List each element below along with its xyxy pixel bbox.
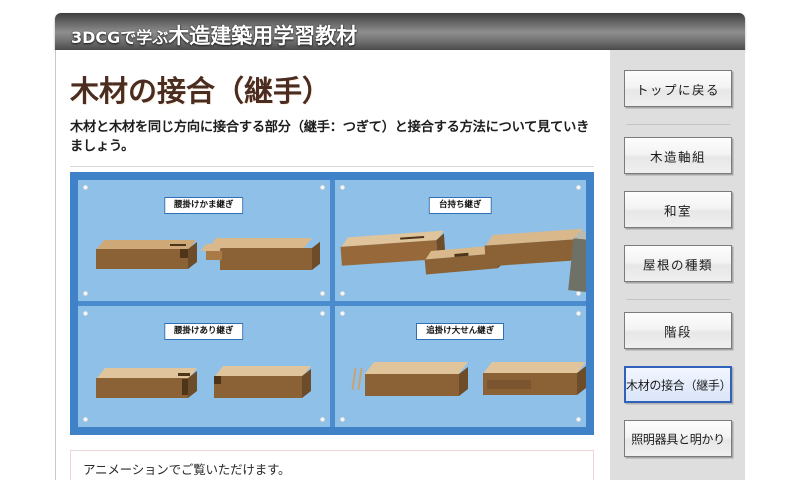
sidebar: トップに戻る 木造軸組 和室 屋根の種類 階段 木材の接合（継手） 照明器具と明…: [609, 50, 745, 480]
figure-panel-1-label: 腰掛けかま継ぎ: [164, 197, 244, 214]
figure-panel-4[interactable]: 追掛け大せん継ぎ: [335, 306, 587, 427]
animation-note-text: アニメーションでご覧いただけます。: [83, 459, 290, 478]
site-title-main: 木造建築用学習教材: [168, 24, 357, 48]
timber-left: [365, 362, 471, 398]
screw-icon: [340, 311, 345, 316]
timber-right: [206, 238, 314, 274]
screw-icon: [340, 291, 345, 296]
sidebar-item-top[interactable]: トップに戻る: [624, 70, 732, 107]
timber-right: [214, 366, 314, 402]
sidebar-item-label: 和室: [625, 200, 731, 219]
timber-left: [96, 240, 196, 274]
screw-icon: [320, 291, 325, 296]
screw-icon: [576, 311, 581, 316]
screw-icon: [83, 417, 88, 422]
timber-right: [483, 362, 587, 398]
screw-icon: [576, 185, 581, 190]
screw-icon: [320, 417, 325, 422]
sidebar-item-label: 屋根の種類: [625, 254, 731, 273]
joinery-figure[interactable]: 腰掛けかま継ぎ: [70, 172, 594, 435]
sidebar-item-shoumeikigu[interactable]: 照明器具と明かり: [624, 420, 732, 457]
sidebar-divider: [626, 124, 730, 125]
page-root: 3DCGで学ぶ木造建築用学習教材 木材の接合（継手） 木材と木材を同じ方向に接合…: [0, 0, 800, 480]
animation-note: アニメーションでご覧いただけます。: [70, 450, 594, 480]
sidebar-item-mokuzou-jikugumi[interactable]: 木造軸組: [624, 137, 732, 174]
sidebar-item-mokuzai-no-setsugou[interactable]: 木材の接合（継手）: [624, 366, 732, 403]
timber-left: [96, 368, 200, 402]
sidebar-item-kaidan[interactable]: 階段: [624, 312, 732, 349]
sidebar-item-label: 木材の接合（継手）: [626, 376, 730, 393]
site-header: 3DCGで学ぶ木造建築用学習教材: [55, 13, 745, 50]
title-divider: [70, 166, 594, 167]
screw-icon: [83, 291, 88, 296]
screw-icon: [340, 185, 345, 190]
screw-icon: [83, 311, 88, 316]
screw-icon: [83, 185, 88, 190]
screw-icon: [576, 417, 581, 422]
sidebar-divider: [626, 299, 730, 300]
figure-panel-3[interactable]: 腰掛けあり継ぎ: [78, 306, 330, 427]
screw-icon: [340, 417, 345, 422]
sidebar-item-label: 階段: [625, 321, 731, 340]
figure-panel-4-label: 追掛け大せん継ぎ: [416, 323, 504, 340]
screw-icon: [320, 185, 325, 190]
lead-paragraph: 木材と木材を同じ方向に接合する部分（継手：つぎて）と接合する方法について見ていき…: [70, 118, 594, 156]
content-shell: 木材の接合（継手） 木材と木材を同じ方向に接合する部分（継手：つぎて）と接合する…: [55, 50, 745, 480]
sidebar-item-label: 照明器具と明かり: [625, 430, 731, 447]
figure-panel-2[interactable]: 台持ち継ぎ: [335, 180, 587, 301]
site-title-prefix: 3DCGで学ぶ: [71, 28, 168, 47]
figure-grid: 腰掛けかま継ぎ: [78, 180, 586, 427]
figure-panel-1[interactable]: 腰掛けかま継ぎ: [78, 180, 330, 301]
figure-panel-2-label: 台持ち継ぎ: [429, 197, 492, 214]
sidebar-item-label: トップに戻る: [625, 79, 731, 98]
figure-panel-3-label: 腰掛けあり継ぎ: [164, 323, 244, 340]
site-title: 3DCGで学ぶ木造建築用学習教材: [71, 20, 357, 50]
sidebar-item-yane-no-shurui[interactable]: 屋根の種類: [624, 245, 732, 282]
main-column: 木材の接合（継手） 木材と木材を同じ方向に接合する部分（継手：つぎて）と接合する…: [56, 50, 608, 480]
page-title: 木材の接合（継手）: [70, 68, 331, 110]
screw-icon: [320, 311, 325, 316]
sidebar-item-label: 木造軸組: [625, 146, 731, 165]
pin-mark: [351, 368, 356, 390]
pin-mark: [357, 368, 362, 390]
sidebar-item-washitsu[interactable]: 和室: [624, 191, 732, 228]
